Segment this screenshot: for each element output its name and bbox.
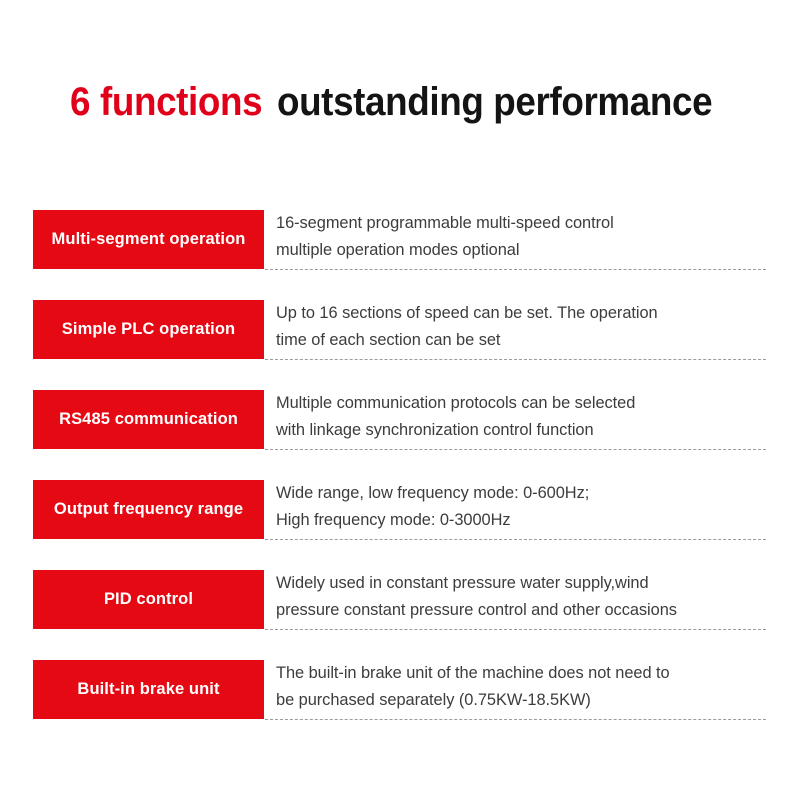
feature-description: Up to 16 sections of speed can be set. T… <box>276 296 766 358</box>
feature-separator <box>265 269 766 270</box>
feature-row: Built-in brake unit The built-in brake u… <box>33 660 766 719</box>
feature-separator <box>265 719 766 720</box>
feature-description-line-2: pressure constant pressure control and o… <box>276 597 766 624</box>
feature-description: Multiple communication protocols can be … <box>276 386 766 448</box>
feature-description-line-2: multiple operation modes optional <box>276 237 766 264</box>
feature-separator <box>265 629 766 630</box>
feature-description-line-2: High frequency mode: 0-3000Hz <box>276 507 766 534</box>
feature-list: Multi-segment operation 16-segment progr… <box>0 0 800 800</box>
feature-description: Wide range, low frequency mode: 0-600Hz;… <box>276 476 766 538</box>
feature-description-line-2: time of each section can be set <box>276 327 766 354</box>
feature-row: Multi-segment operation 16-segment progr… <box>33 210 766 269</box>
feature-description-line-1: Up to 16 sections of speed can be set. T… <box>276 300 766 327</box>
feature-infographic-page: 6 functionsoutstanding performance Multi… <box>0 0 800 800</box>
feature-row: PID control Widely used in constant pres… <box>33 570 766 629</box>
feature-description: The built-in brake unit of the machine d… <box>276 656 766 718</box>
feature-description: Widely used in constant pressure water s… <box>276 566 766 628</box>
feature-label-badge: RS485 communication <box>33 390 264 449</box>
feature-label-badge: Simple PLC operation <box>33 300 264 359</box>
feature-label-badge: Multi-segment operation <box>33 210 264 269</box>
feature-separator <box>265 359 766 360</box>
feature-separator <box>265 539 766 540</box>
feature-label-badge: Built-in brake unit <box>33 660 264 719</box>
feature-description: 16-segment programmable multi-speed cont… <box>276 206 766 268</box>
feature-row: Output frequency range Wide range, low f… <box>33 480 766 539</box>
feature-description-line-1: The built-in brake unit of the machine d… <box>276 660 766 687</box>
feature-description-line-1: Wide range, low frequency mode: 0-600Hz; <box>276 480 766 507</box>
feature-description-line-1: 16-segment programmable multi-speed cont… <box>276 210 766 237</box>
feature-description-line-2: with linkage synchronization control fun… <box>276 417 766 444</box>
feature-separator <box>265 449 766 450</box>
feature-description-line-1: Multiple communication protocols can be … <box>276 390 766 417</box>
feature-row: Simple PLC operation Up to 16 sections o… <box>33 300 766 359</box>
feature-label-badge: PID control <box>33 570 264 629</box>
feature-description-line-1: Widely used in constant pressure water s… <box>276 570 766 597</box>
feature-description-line-2: be purchased separately (0.75KW-18.5KW) <box>276 687 766 714</box>
feature-row: RS485 communication Multiple communicati… <box>33 390 766 449</box>
feature-label-badge: Output frequency range <box>33 480 264 539</box>
